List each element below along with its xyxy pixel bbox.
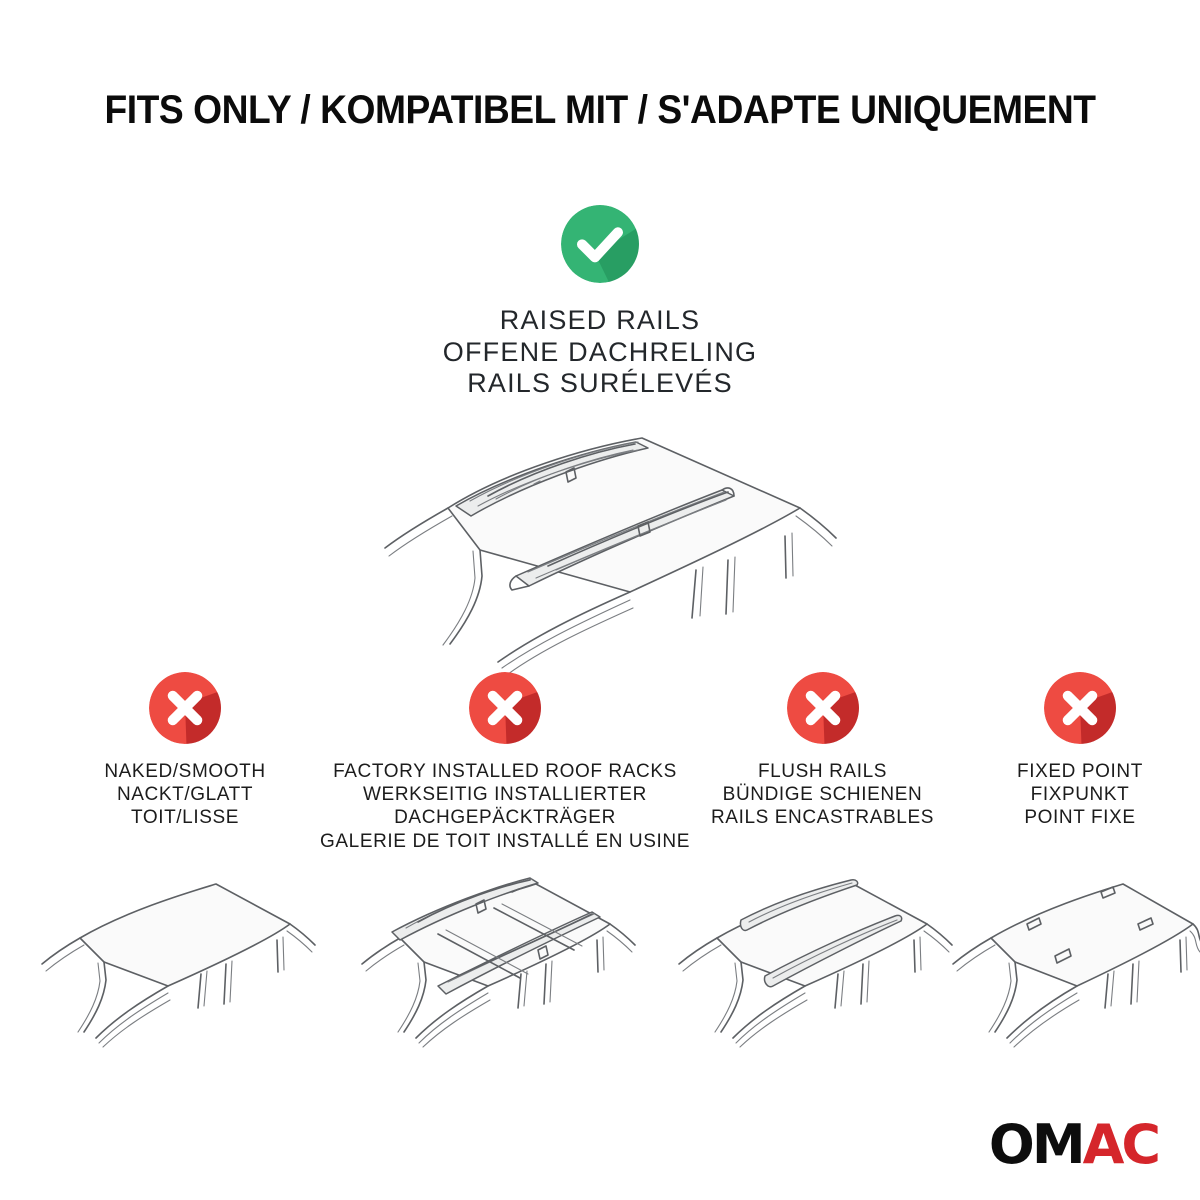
x-circle-icon (1044, 672, 1116, 744)
label-line-de-1: WERKSEITIG INSTALLIERTER (320, 783, 690, 806)
car-roof-flush-rails-illustration (655, 852, 955, 1052)
incompatible-label-flush-rails: FLUSH RAILS BÜNDIGE SCHIENEN RAILS ENCAS… (711, 760, 934, 830)
car-roof-fixed-point-illustration (935, 852, 1200, 1052)
car-roof-naked-smooth-illustration (18, 852, 318, 1052)
car-roof-factory-racks-illustration (330, 838, 650, 1048)
incompatible-item-fixed-point: FIXED POINT FIXPUNKT POINT FIXE (955, 672, 1200, 830)
label-line-fr: RAILS ENCASTRABLES (711, 806, 934, 829)
incompatible-label-fixed-point: FIXED POINT FIXPUNKT POINT FIXE (1017, 760, 1143, 830)
compatible-label: RAISED RAILS OFFENE DACHRELING RAILS SUR… (443, 305, 757, 400)
label-line-de: FIXPUNKT (1017, 783, 1143, 806)
logo-text-dark: OM (989, 1113, 1083, 1176)
label-line-de: BÜNDIGE SCHIENEN (711, 783, 934, 806)
check-circle-icon (561, 205, 639, 283)
compatible-section: RAISED RAILS OFFENE DACHRELING RAILS SUR… (0, 205, 1200, 400)
omac-logo: OMAC (989, 1118, 1158, 1172)
label-line-fr: TOIT/LISSE (104, 806, 265, 829)
incompatible-item-naked-smooth: NAKED/SMOOTH NACKT/GLATT TOIT/LISSE (40, 672, 330, 830)
label-line-en: NAKED/SMOOTH (104, 760, 265, 783)
x-circle-icon (149, 672, 221, 744)
car-roof-raised-rails-illustration (330, 400, 870, 680)
label-line-fr: POINT FIXE (1017, 806, 1143, 829)
incompatible-label-naked-smooth: NAKED/SMOOTH NACKT/GLATT TOIT/LISSE (104, 760, 265, 830)
incompatible-item-flush-rails: FLUSH RAILS BÜNDIGE SCHIENEN RAILS ENCAS… (680, 672, 965, 830)
label-line-de-2: DACHGEPÄCKTRÄGER (320, 806, 690, 829)
label-line-en: FIXED POINT (1017, 760, 1143, 783)
fitment-compatibility-infographic: FITS ONLY / KOMPATIBEL MIT / S'ADAPTE UN… (0, 0, 1200, 1200)
compatible-label-de: OFFENE DACHRELING (443, 337, 757, 369)
page-title: FITS ONLY / KOMPATIBEL MIT / S'ADAPTE UN… (42, 88, 1158, 133)
incompatible-item-factory-racks: FACTORY INSTALLED ROOF RACKS WERKSEITIG … (320, 672, 690, 853)
compatible-label-fr: RAILS SURÉLEVÉS (443, 368, 757, 400)
compatible-label-en: RAISED RAILS (443, 305, 757, 337)
logo-text-red: AC (1083, 1113, 1158, 1176)
x-circle-icon (787, 672, 859, 744)
label-line-en: FACTORY INSTALLED ROOF RACKS (320, 760, 690, 783)
label-line-de: NACKT/GLATT (104, 783, 265, 806)
x-circle-icon (469, 672, 541, 744)
label-line-en: FLUSH RAILS (711, 760, 934, 783)
